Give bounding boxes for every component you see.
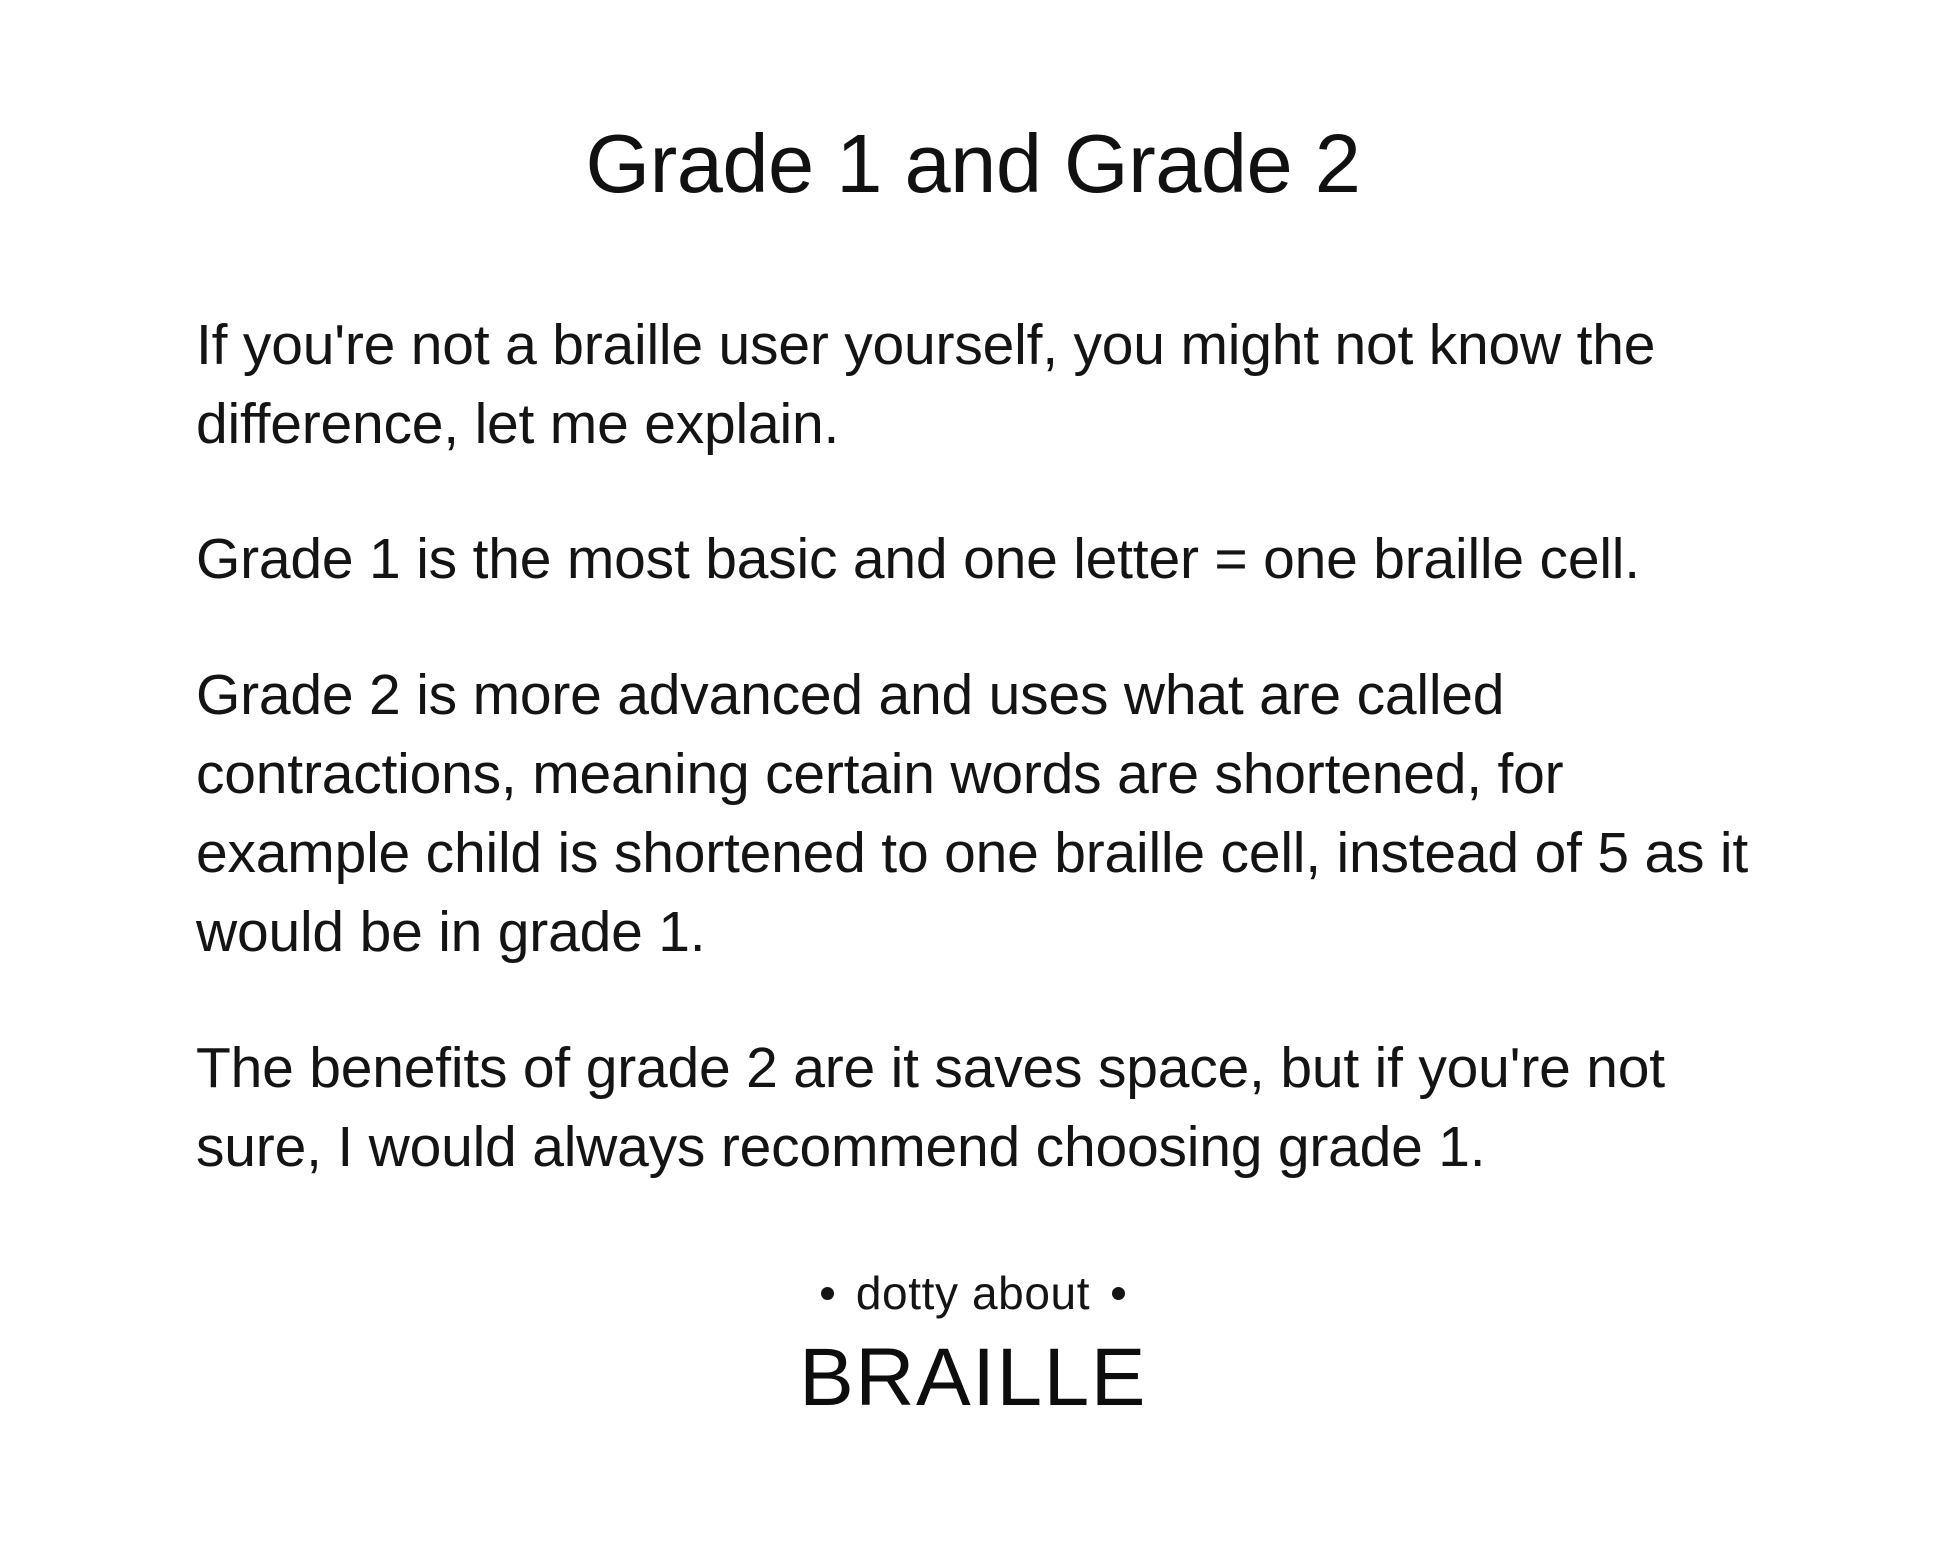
page-title: Grade 1 and Grade 2 xyxy=(0,118,1946,209)
logo-tagline: dotty about xyxy=(821,1268,1125,1319)
paragraph-intro: If you're not a braille user yourself, y… xyxy=(196,306,1781,464)
logo-tagline-text: dotty about xyxy=(856,1268,1090,1319)
paragraph-benefits: The benefits of grade 2 are it saves spa… xyxy=(196,1029,1781,1187)
paragraph-grade-2: Grade 2 is more advanced and uses what a… xyxy=(196,656,1781,973)
logo-wordmark: BRAILLE xyxy=(0,1332,1946,1424)
document-page: Grade 1 and Grade 2 If you're not a brai… xyxy=(0,0,1946,1557)
brand-logo: dotty about BRAILLE xyxy=(0,1268,1946,1423)
bullet-dot-icon-left xyxy=(821,1287,834,1300)
paragraph-grade-1: Grade 1 is the most basic and one letter… xyxy=(196,520,1781,599)
bullet-dot-icon-right xyxy=(1112,1287,1125,1300)
body-copy: If you're not a braille user yourself, y… xyxy=(196,306,1781,1187)
